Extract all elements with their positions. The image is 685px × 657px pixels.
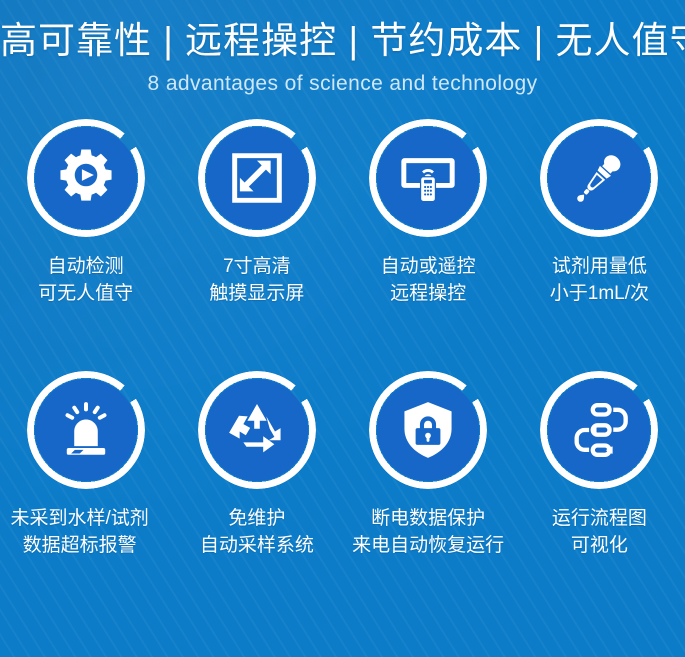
caption-line-1: 断电数据保护 xyxy=(352,505,504,532)
advantage-badge-7 xyxy=(369,371,487,489)
advantages-grid: 自动检测 可无人值守 7寸高清 触摸显示屏 xyxy=(0,119,685,614)
alarm-siren-icon xyxy=(35,379,137,481)
page-subtitle: 8 advantages of science and technology xyxy=(0,71,685,97)
recycle-icon xyxy=(206,379,308,481)
pipette-dropper-icon xyxy=(548,127,650,229)
advantage-badge-1 xyxy=(27,119,145,237)
advantage-card-1: 自动检测 可无人值守 xyxy=(0,119,171,371)
advantage-badge-2 xyxy=(198,119,316,237)
advantage-card-5: 未采到水样/试剂 数据超标报警 xyxy=(0,371,171,614)
shield-lock-icon xyxy=(377,379,479,481)
caption-line-2: 来电自动恢复运行 xyxy=(352,532,504,559)
caption-line-2: 自动采样系统 xyxy=(200,532,314,559)
advantage-card-2: 7寸高清 触摸显示屏 xyxy=(171,119,342,371)
caption-line-2: 小于1mL/次 xyxy=(550,280,649,307)
poster-canvas: 高可靠性 | 远程操控 | 节约成本 | 无人值守 8 advantages o… xyxy=(0,0,685,657)
caption-line-1: 运行流程图 xyxy=(552,505,647,532)
advantage-caption-3: 自动或遥控 远程操控 xyxy=(381,253,476,307)
advantage-caption-8: 运行流程图 可视化 xyxy=(552,505,647,559)
page-title: 高可靠性 | 远程操控 | 节约成本 | 无人值守 xyxy=(0,18,685,64)
fullscreen-expand-icon xyxy=(206,127,308,229)
advantage-badge-6 xyxy=(198,371,316,489)
caption-line-1: 未采到水样/试剂 xyxy=(10,505,148,532)
gear-play-icon xyxy=(35,127,137,229)
advantage-badge-5 xyxy=(27,371,145,489)
advantage-badge-4 xyxy=(540,119,658,237)
advantage-card-8: 运行流程图 可视化 xyxy=(514,371,685,614)
caption-line-1: 自动检测 xyxy=(38,253,133,280)
caption-line-1: 7寸高清 xyxy=(209,253,304,280)
advantage-card-6: 免维护 自动采样系统 xyxy=(171,371,342,614)
advantage-card-4: 试剂用量低 小于1mL/次 xyxy=(514,119,685,371)
caption-line-2: 触摸显示屏 xyxy=(209,280,304,307)
advantage-caption-5: 未采到水样/试剂 数据超标报警 xyxy=(10,505,148,559)
caption-line-1: 免维护 xyxy=(200,505,314,532)
caption-line-2: 可视化 xyxy=(552,532,647,559)
advantage-caption-6: 免维护 自动采样系统 xyxy=(200,505,314,559)
caption-line-1: 试剂用量低 xyxy=(550,253,649,280)
advantage-badge-3 xyxy=(369,119,487,237)
caption-line-2: 远程操控 xyxy=(381,280,476,307)
advantage-card-7: 断电数据保护 来电自动恢复运行 xyxy=(343,371,514,614)
caption-line-1: 自动或遥控 xyxy=(381,253,476,280)
caption-line-2: 数据超标报警 xyxy=(10,532,148,559)
monitor-remote-control-icon xyxy=(377,127,479,229)
advantage-caption-7: 断电数据保护 来电自动恢复运行 xyxy=(352,505,504,559)
flowchart-loop-icon xyxy=(548,379,650,481)
caption-line-2: 可无人值守 xyxy=(38,280,133,307)
advantage-caption-2: 7寸高清 触摸显示屏 xyxy=(209,253,304,307)
advantage-caption-4: 试剂用量低 小于1mL/次 xyxy=(550,253,649,307)
advantage-caption-1: 自动检测 可无人值守 xyxy=(38,253,133,307)
advantage-card-3: 自动或遥控 远程操控 xyxy=(343,119,514,371)
poster-header: 高可靠性 | 远程操控 | 节约成本 | 无人值守 8 advantages o… xyxy=(0,0,685,97)
advantage-badge-8 xyxy=(540,371,658,489)
